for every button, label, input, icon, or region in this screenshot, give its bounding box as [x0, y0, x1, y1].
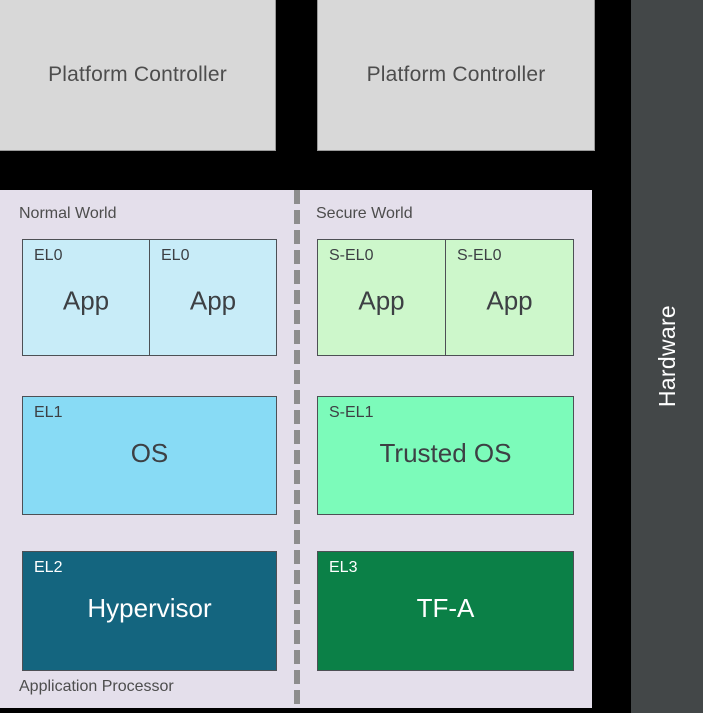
- exception-level-box-el1-os: EL1 OS: [22, 396, 277, 515]
- exception-level-tag: EL2: [34, 559, 62, 577]
- platform-controller-label-1: Platform Controller: [48, 63, 227, 87]
- platform-controller-box-1: Platform Controller: [0, 0, 276, 151]
- exception-level-box-sel0-app-2: S-EL0 App: [445, 239, 574, 356]
- exception-level-tag: EL1: [34, 404, 62, 422]
- world-separator-dashed-line: [294, 190, 300, 708]
- exception-level-name: Trusted OS: [318, 438, 573, 469]
- hardware-bar: Hardware: [631, 0, 703, 713]
- exception-level-tag: S-EL0: [457, 247, 501, 265]
- exception-level-tag: EL3: [329, 559, 357, 577]
- secure-world-title: Secure World: [316, 205, 413, 223]
- exception-level-name: App: [23, 285, 149, 316]
- exception-level-name: Hypervisor: [23, 593, 276, 624]
- exception-level-name: App: [150, 285, 276, 316]
- exception-level-tag: S-EL1: [329, 404, 373, 422]
- architecture-diagram: Platform Controller Platform Controller …: [0, 0, 703, 713]
- hardware-label: Hardware: [654, 305, 681, 407]
- exception-level-box-sel1-trusted-os: S-EL1 Trusted OS: [317, 396, 574, 515]
- exception-level-box-el0-app-1: EL0 App: [22, 239, 150, 356]
- platform-controller-box-2: Platform Controller: [317, 0, 595, 151]
- exception-level-name: TF-A: [318, 593, 573, 624]
- exception-level-name: App: [446, 285, 573, 316]
- exception-level-name: App: [318, 285, 445, 316]
- exception-level-box-sel0-app-1: S-EL0 App: [317, 239, 446, 356]
- exception-level-tag: EL0: [34, 247, 62, 265]
- exception-level-box-el0-app-2: EL0 App: [149, 239, 277, 356]
- exception-level-box-el2-hypervisor: EL2 Hypervisor: [22, 551, 277, 671]
- platform-controller-label-2: Platform Controller: [367, 63, 546, 87]
- application-processor-label: Application Processor: [19, 678, 174, 696]
- exception-level-name: OS: [23, 438, 276, 469]
- exception-level-tag: EL0: [161, 247, 189, 265]
- normal-world-title: Normal World: [19, 205, 117, 223]
- exception-level-box-el3-tfa: EL3 TF-A: [317, 551, 574, 671]
- exception-level-tag: S-EL0: [329, 247, 373, 265]
